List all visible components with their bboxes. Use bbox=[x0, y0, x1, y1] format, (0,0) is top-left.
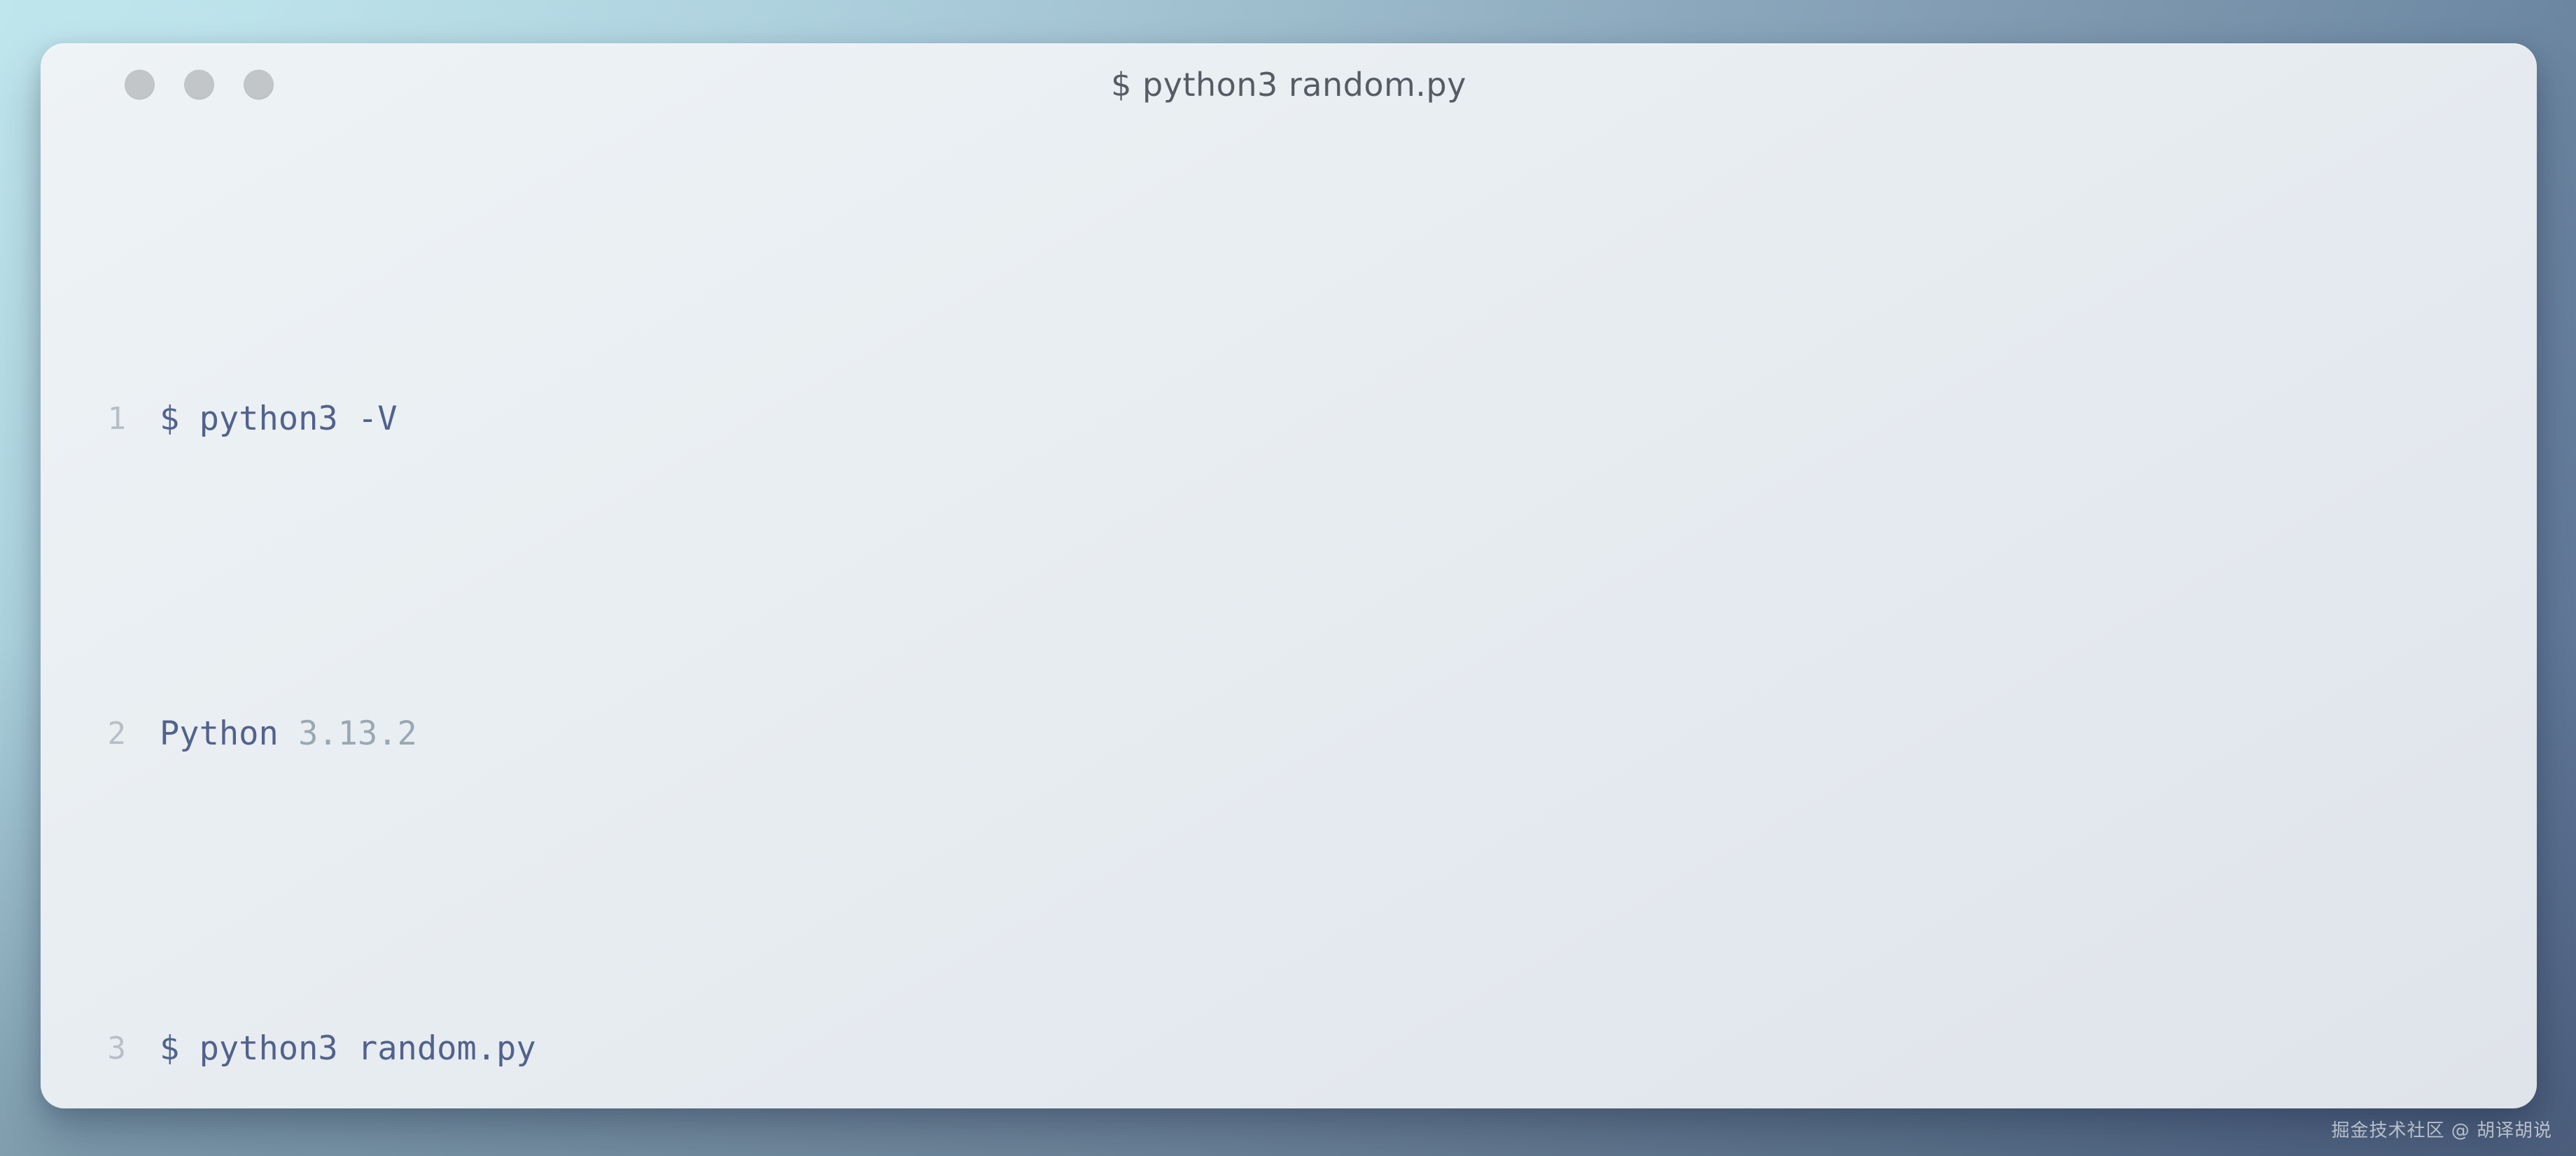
close-button[interactable] bbox=[125, 70, 155, 100]
window-title: $ python3 random.py bbox=[41, 66, 2537, 104]
shell-command: python3 random.py bbox=[199, 1029, 536, 1068]
line-content: $ python3 -V bbox=[160, 388, 2537, 451]
terminal-window: $ python3 random.py 1 $ python3 -V 2 Pyt… bbox=[41, 43, 2537, 1108]
python-version: 3.13.2 bbox=[298, 714, 417, 753]
line-content: $ python3 random.py bbox=[160, 1017, 2537, 1080]
line-number: 3 bbox=[41, 1017, 160, 1080]
shell-prompt: $ bbox=[160, 400, 199, 438]
python-label: Python bbox=[160, 714, 298, 753]
window-titlebar: $ python3 random.py bbox=[41, 43, 2537, 126]
line-number: 2 bbox=[41, 703, 160, 766]
line-number: 1 bbox=[41, 388, 160, 451]
line-content: Python 3.13.2 bbox=[160, 703, 2537, 766]
shell-prompt: $ bbox=[160, 1029, 199, 1068]
terminal-line: 2 Python 3.13.2 bbox=[41, 703, 2537, 766]
shell-command: python3 -V bbox=[199, 400, 398, 438]
traffic-light-group bbox=[125, 70, 274, 100]
terminal-line: 3 $ python3 random.py bbox=[41, 1017, 2537, 1080]
watermark: 掘金技术社区 @ 胡译胡说 bbox=[2331, 1116, 2552, 1142]
terminal-line: 1 $ python3 -V bbox=[41, 388, 2537, 451]
terminal-output[interactable]: 1 $ python3 -V 2 Python 3.13.2 3 $ pytho… bbox=[41, 126, 2537, 1108]
zoom-button[interactable] bbox=[244, 70, 274, 100]
minimize-button[interactable] bbox=[184, 70, 214, 100]
